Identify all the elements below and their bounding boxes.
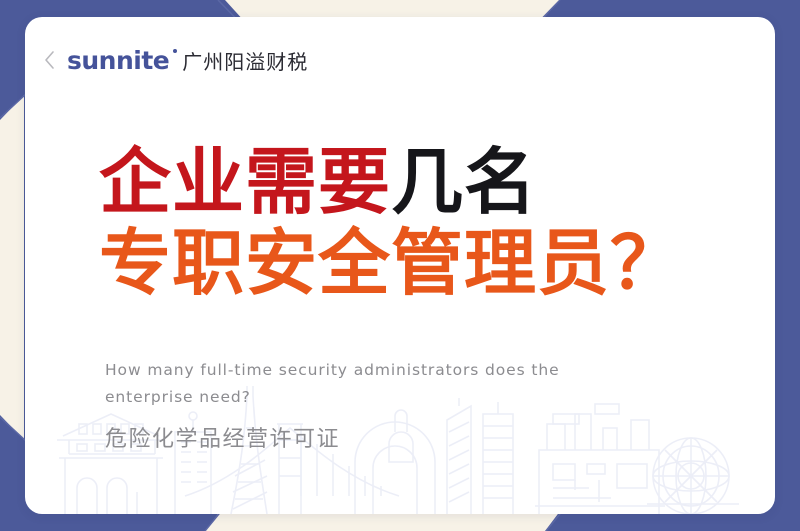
content-card: sunnite 广州阳溢财税 企业需要几名 专职安全管理员？ How many …	[25, 17, 775, 514]
poster-canvas: sunnite 广州阳溢财税 企业需要几名 专职安全管理员？ How many …	[0, 0, 800, 531]
headline-segment-black: 几名	[391, 140, 537, 224]
headline-segment-red: 企业需要	[99, 140, 391, 224]
headline-line-1: 企业需要几名	[99, 142, 759, 223]
headline-line-2: 专职安全管理员？	[99, 223, 759, 304]
subtitle-english: How many full-time security administrato…	[105, 357, 650, 411]
sunnite-logo: sunnite	[67, 48, 178, 73]
logo-dot-icon	[173, 49, 177, 53]
brand-lockup: sunnite 广州阳溢财税	[67, 48, 308, 73]
headline-block: 企业需要几名 专职安全管理员？	[99, 142, 759, 303]
chevron-left-icon[interactable]	[41, 48, 59, 72]
brand-name: 广州阳溢财税	[182, 52, 308, 72]
subtitle-chinese: 危险化学品经营许可证	[105, 421, 340, 453]
card-header: sunnite 广州阳溢财税	[25, 39, 775, 81]
